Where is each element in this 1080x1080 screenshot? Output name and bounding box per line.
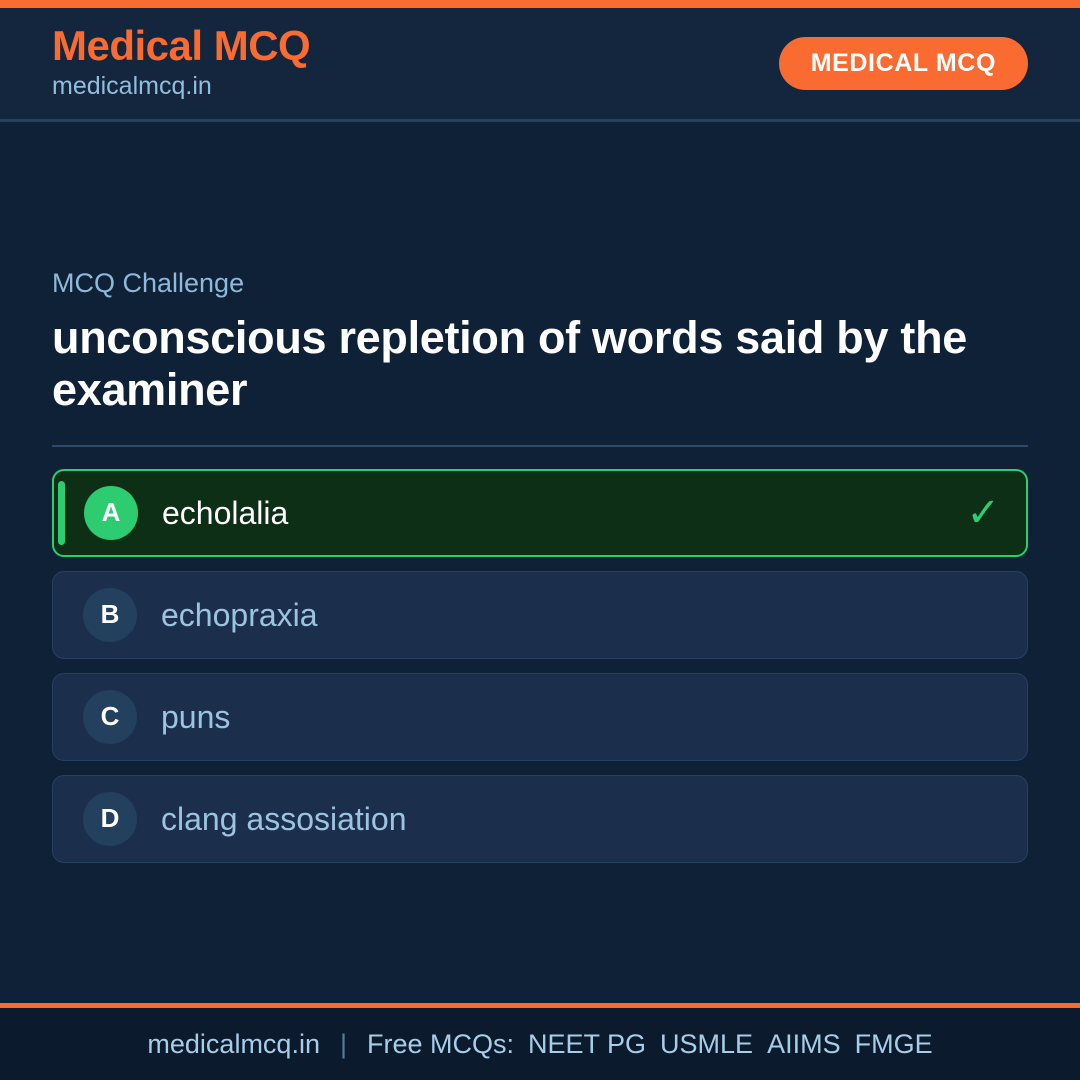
option-d[interactable]: Dclang assosiation✓: [52, 775, 1028, 863]
footer-exam: FMGE: [855, 1029, 933, 1060]
check-icon: ✓: [966, 493, 1000, 533]
option-b[interactable]: Bechopraxia✓: [52, 571, 1028, 659]
footer-exam-list: NEET PGUSMLEAIIMSFMGE: [528, 1029, 933, 1060]
question-divider: [52, 445, 1028, 447]
header-badge: MEDICAL MCQ: [779, 37, 1028, 90]
page-footer: medicalmcq.in | Free MCQs: NEET PGUSMLEA…: [0, 1008, 1080, 1080]
footer-prefix: Free MCQs:: [367, 1029, 514, 1060]
footer-exam: NEET PG: [528, 1029, 646, 1060]
option-letter-badge: D: [83, 792, 137, 846]
kicker-label: MCQ Challenge: [52, 267, 1028, 299]
footer-separator: |: [334, 1029, 353, 1060]
option-a[interactable]: Aecholalia✓: [52, 469, 1028, 557]
brand: Medical MCQ medicalmcq.in: [52, 24, 310, 103]
brand-url: medicalmcq.in: [52, 70, 310, 103]
option-label: puns: [161, 698, 230, 736]
option-label: clang assosiation: [161, 800, 406, 838]
option-letter-badge: B: [83, 588, 137, 642]
page-header: Medical MCQ medicalmcq.in MEDICAL MCQ: [0, 8, 1080, 122]
main-content: MCQ Challenge unconscious repletion of w…: [0, 125, 1080, 1005]
option-label: echopraxia: [161, 596, 318, 634]
correct-accent-bar: [58, 481, 65, 545]
top-accent-bar: [0, 0, 1080, 8]
option-label: echolalia: [162, 494, 288, 532]
footer-site: medicalmcq.in: [147, 1029, 320, 1060]
option-letter-badge: A: [84, 486, 138, 540]
brand-title: Medical MCQ: [52, 24, 310, 68]
option-c[interactable]: Cpuns✓: [52, 673, 1028, 761]
footer-exam: AIIMS: [767, 1029, 841, 1060]
question-text: unconscious repletion of words said by t…: [52, 312, 982, 417]
footer-exam: USMLE: [660, 1029, 753, 1060]
option-letter-badge: C: [83, 690, 137, 744]
options-list: Aecholalia✓Bechopraxia✓Cpuns✓Dclang asso…: [52, 469, 1028, 863]
